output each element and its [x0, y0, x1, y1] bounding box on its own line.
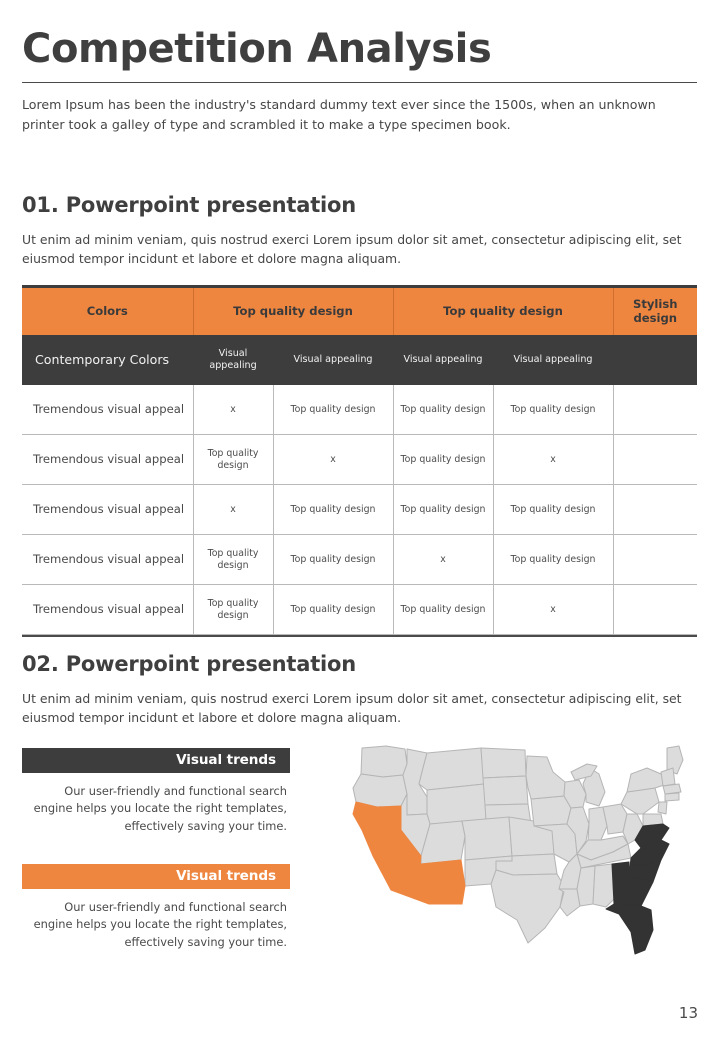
row-cell: x — [493, 585, 613, 635]
state-montana — [419, 748, 484, 790]
table-row: Tremendous visual appeal Top quality des… — [22, 435, 697, 485]
state-south-dakota — [483, 776, 528, 805]
row-cell: Top quality design — [393, 385, 493, 435]
subheader-cell-4: Visual appealing — [493, 335, 613, 385]
section-1-heading: 01. Powerpoint presentation — [22, 193, 356, 217]
state-alabama — [593, 864, 614, 907]
state-north-dakota — [481, 748, 526, 778]
table-row: Tremendous visual appeal Top quality des… — [22, 535, 697, 585]
state-wyoming — [427, 784, 486, 824]
visual-trends-card-dark: Visual trends Our user-friendly and func… — [22, 748, 290, 835]
row-cell: Top quality design — [193, 435, 273, 485]
table-header-top-quality-2: Top quality design — [393, 288, 613, 335]
row-cell: Top quality design — [193, 585, 273, 635]
row-cell: Top quality design — [273, 485, 393, 535]
subheader-cell-1: Visual appealing — [193, 335, 273, 385]
row-label: Tremendous visual appeal — [22, 435, 193, 485]
table-header-top-quality-1: Top quality design — [193, 288, 393, 335]
table-row: Tremendous visual appeal x Top quality d… — [22, 485, 697, 535]
visual-trends-card-orange: Visual trends Our user-friendly and func… — [22, 864, 290, 951]
section-2-heading: 02. Powerpoint presentation — [22, 652, 356, 676]
row-cell: Top quality design — [493, 485, 613, 535]
card-title: Visual trends — [22, 864, 290, 889]
row-cell — [613, 585, 697, 635]
state-vermont-nh — [661, 768, 675, 786]
row-cell — [613, 535, 697, 585]
state-connecticut-ri — [665, 793, 679, 801]
state-texas — [491, 870, 564, 943]
row-label: Tremendous visual appeal — [22, 585, 193, 635]
card-description: Our user-friendly and functional search … — [22, 783, 290, 835]
title-divider — [22, 82, 697, 83]
row-cell: Top quality design — [393, 485, 493, 535]
subheader-cell-5 — [613, 335, 697, 385]
state-iowa — [531, 796, 571, 826]
row-cell: Top quality design — [393, 585, 493, 635]
row-cell: x — [273, 435, 393, 485]
row-label: Tremendous visual appeal — [22, 535, 193, 585]
row-cell: Top quality design — [493, 535, 613, 585]
row-cell — [613, 385, 697, 435]
table-subheader-row: Contemporary Colors Visual appealing Vis… — [22, 335, 697, 385]
row-cell: x — [193, 385, 273, 435]
row-label: Tremendous visual appeal — [22, 385, 193, 435]
state-minnesota — [526, 756, 565, 799]
table-header-stylish-design: Stylish design — [613, 288, 697, 335]
us-map-svg — [331, 744, 703, 970]
state-new-jersey — [658, 802, 667, 814]
page-number: 13 — [679, 1004, 698, 1022]
row-cell: Top quality design — [493, 385, 613, 435]
card-description: Our user-friendly and functional search … — [22, 899, 290, 951]
page-intro-text: Lorem Ipsum has been the industry's stan… — [22, 95, 697, 134]
section-1-body: Ut enim ad minim veniam, quis nostrud ex… — [22, 230, 700, 268]
table-row: Tremendous visual appeal Top quality des… — [22, 585, 697, 635]
row-cell — [613, 485, 697, 535]
state-florida-highlight — [606, 904, 653, 954]
row-cell: Top quality design — [273, 535, 393, 585]
united-states-map — [331, 744, 703, 970]
row-cell: Top quality design — [273, 385, 393, 435]
table-bottom-bar — [22, 635, 697, 638]
slide-page: Competition Analysis Lorem Ipsum has bee… — [0, 0, 720, 1040]
state-colorado — [462, 817, 512, 860]
row-cell: Top quality design — [193, 535, 273, 585]
row-cell: x — [493, 435, 613, 485]
state-massachusetts — [663, 784, 681, 794]
state-oregon — [353, 774, 407, 807]
page-title: Competition Analysis — [22, 26, 491, 72]
subheader-cell-3: Visual appealing — [393, 335, 493, 385]
card-title: Visual trends — [22, 748, 290, 773]
row-label: Tremendous visual appeal — [22, 485, 193, 535]
row-cell: x — [393, 535, 493, 585]
table-header-row: Colors Top quality design Top quality de… — [22, 288, 697, 335]
comparison-table-wrapper: Colors Top quality design Top quality de… — [22, 285, 697, 637]
row-cell: Top quality design — [393, 435, 493, 485]
subheader-cell-2: Visual appealing — [273, 335, 393, 385]
table-header-colors: Colors — [22, 288, 193, 335]
state-washington — [361, 746, 407, 777]
section-2-body: Ut enim ad minim veniam, quis nostrud ex… — [22, 689, 700, 727]
comparison-table: Colors Top quality design Top quality de… — [22, 285, 697, 637]
subheader-contemporary-colors: Contemporary Colors — [22, 335, 193, 385]
table-row: Tremendous visual appeal x Top quality d… — [22, 385, 697, 435]
row-cell — [613, 435, 697, 485]
row-cell: Top quality design — [273, 585, 393, 635]
row-cell: x — [193, 485, 273, 535]
